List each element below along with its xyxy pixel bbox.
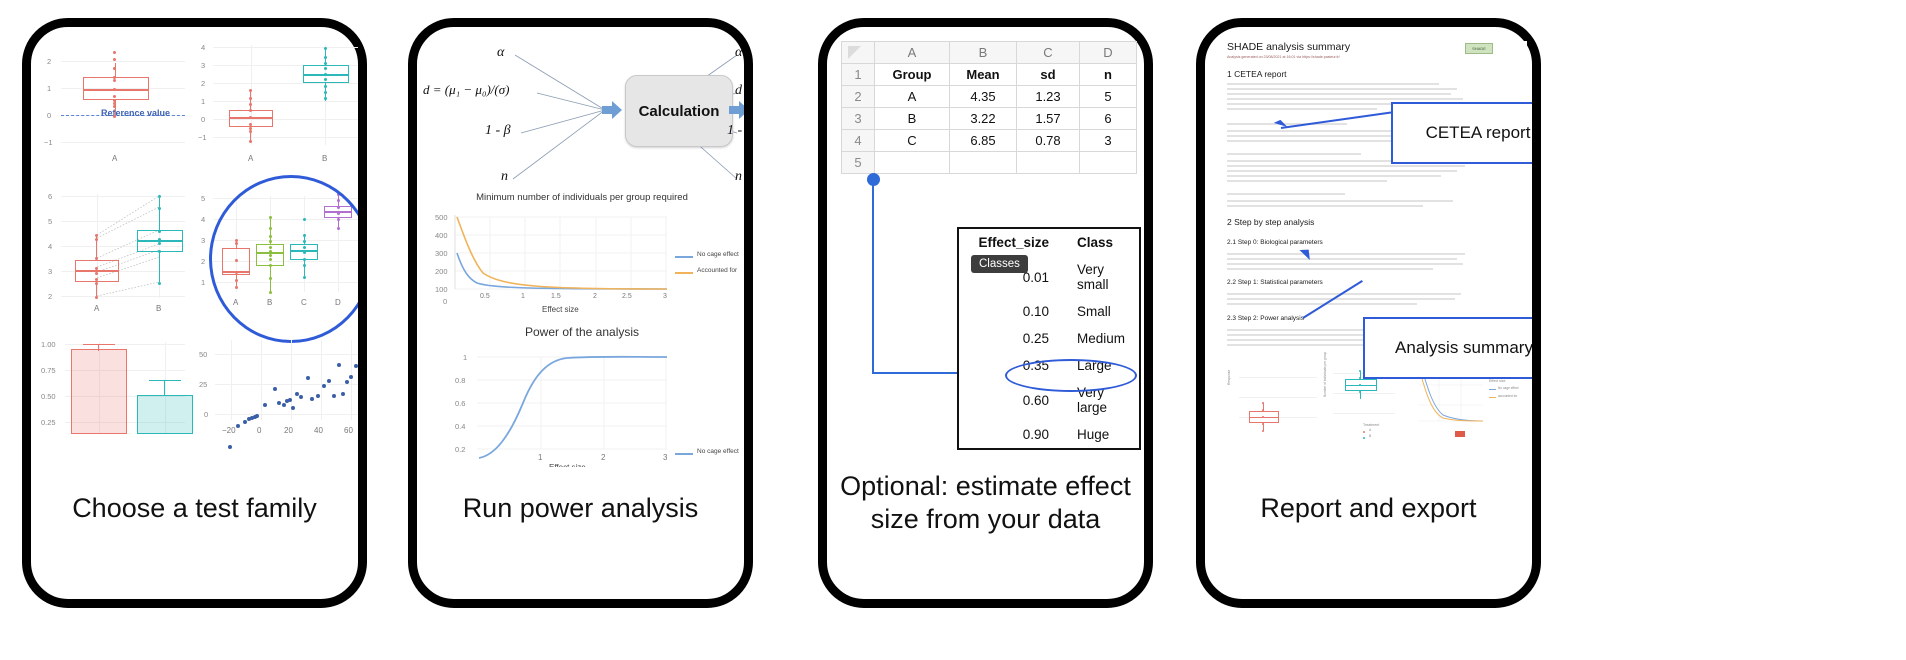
effect-size-class: Medium xyxy=(1063,325,1139,352)
chart-minimum-n: 500 400 300 200 100 0 0.5 1 1.5 2 2.5 3 … xyxy=(417,209,744,324)
cell[interactable]: 6.85 xyxy=(950,130,1017,152)
row-num: 3 xyxy=(842,108,875,130)
panel4-body: SHADE analysis summary SHADE Analysis ge… xyxy=(1205,27,1532,457)
cell[interactable]: 5 xyxy=(1080,86,1137,108)
doc-section-1: 1 CETEA report xyxy=(1227,69,1287,79)
table-row[interactable]: 0.10 Small xyxy=(959,298,1139,325)
mini-legend-title: Treatment xyxy=(1363,423,1379,427)
bar-B xyxy=(137,395,193,434)
panel1-caption: Choose a test family xyxy=(31,492,358,524)
mini-legend-right-0: No cage effect xyxy=(1498,386,1519,390)
chart1-legend-0: No cage effect xyxy=(697,251,739,258)
calculation-box: Calculation xyxy=(625,75,733,147)
sheet-col-A[interactable]: A xyxy=(875,42,950,64)
chart1-title: Minimum number of individuals per group … xyxy=(417,192,744,203)
panel-estimate-effect-size: A B C D 1 Group Mean sd n 2 A 4.35 1.23 xyxy=(818,18,1153,608)
effect-size-header: Effect_size xyxy=(959,229,1063,256)
input-power: 1 - β xyxy=(485,123,511,139)
classes-tooltip: Classes xyxy=(971,255,1028,273)
output-n: n xyxy=(735,169,742,185)
chart-two-sample-box: 4 3 2 1 0 −1 xyxy=(191,37,358,177)
panel3-body: A B C D 1 Group Mean sd n 2 A 4.35 1.23 xyxy=(827,27,1144,457)
doc-title: SHADE analysis summary xyxy=(1227,41,1350,53)
row-num: 1 xyxy=(842,64,875,86)
effect-size-class: Huge xyxy=(1063,421,1139,448)
chart-correlation-scatter: 50 25 0 −20 0 20 40 60 xyxy=(191,332,358,450)
cell[interactable]: 0.78 xyxy=(1017,130,1080,152)
cell[interactable]: 4.35 xyxy=(950,86,1017,108)
arrow-into-calculation-icon xyxy=(602,101,624,121)
pair-connector-lines xyxy=(39,182,189,327)
mini-legend-right-1: accounted for xyxy=(1498,394,1517,398)
output-power: 1 - β xyxy=(727,123,744,139)
sheet-col-B[interactable]: B xyxy=(950,42,1017,64)
doc-section-2-3: 2.3 Step 2: Power analysis xyxy=(1227,315,1304,322)
table-row[interactable]: 5 xyxy=(842,152,1137,174)
table-row[interactable]: 0.90 Huge xyxy=(959,421,1139,448)
row-num: 4 xyxy=(842,130,875,152)
chart-power: 1 0.8 0.6 0.4 0.2 1 2 3 Effect size No c… xyxy=(417,345,744,467)
panel3-caption-line1: Optional: estimate effect xyxy=(827,470,1144,502)
effect-table-header-row: Effect_size Class xyxy=(959,229,1139,256)
cell[interactable]: 6 xyxy=(1080,108,1137,130)
cell[interactable]: B xyxy=(875,108,950,130)
mini-boxplot: Response xyxy=(1227,363,1322,443)
connector-vertical xyxy=(872,183,874,373)
chart1-legend-1: Accounted for xyxy=(697,267,737,274)
reference-value-label: Reference value xyxy=(101,108,170,118)
table-row[interactable]: 2 A 4.35 1.23 5 xyxy=(842,86,1137,108)
table-row[interactable]: 0.25 Medium xyxy=(959,325,1139,352)
callout-arrow-2-head-icon xyxy=(1297,245,1313,261)
effect-size-class: Very small xyxy=(1063,256,1139,298)
arrow-out-of-calculation-icon xyxy=(729,101,744,121)
panel2-body: α d = (μ₁ − μ₀)/(σ) 1 - β n Calculation … xyxy=(417,27,744,467)
cell[interactable]: sd xyxy=(1017,64,1080,86)
callout-arrow-1-head-icon xyxy=(1273,117,1289,133)
mini-axis-mid: Number of individuals per group xyxy=(1323,352,1327,397)
cell[interactable]: 3 xyxy=(1080,130,1137,152)
data-spreadsheet[interactable]: A B C D 1 Group Mean sd n 2 A 4.35 1.23 xyxy=(841,41,1137,174)
cell[interactable]: Mean xyxy=(950,64,1017,86)
selected-row-ellipse xyxy=(1005,359,1137,392)
effect-size-class: Small xyxy=(1063,298,1139,325)
chart-paired-box: 6 5 4 3 2 xyxy=(39,182,189,327)
cell[interactable]: A xyxy=(875,86,950,108)
mini-legend-item-0: A xyxy=(1369,428,1371,432)
panel3-caption-line2: size from your data xyxy=(827,503,1144,535)
sheet-corner xyxy=(842,42,875,64)
doc-section-2-2: 2.2 Step 1: Statistical parameters xyxy=(1227,279,1323,286)
doc-section-2: 2 Step by step analysis xyxy=(1227,217,1314,227)
row-num: 2 xyxy=(842,86,875,108)
class-header: Class xyxy=(1063,229,1139,256)
input-effect-size-formula: d = (μ₁ − μ₀)/(σ) xyxy=(423,82,509,98)
cell[interactable]: 3.22 xyxy=(950,108,1017,130)
effect-size-value: 0.10 xyxy=(959,298,1063,325)
cell[interactable]: n xyxy=(1080,64,1137,86)
cell[interactable] xyxy=(875,152,950,174)
table-row[interactable]: 1 Group Mean sd n xyxy=(842,64,1137,86)
cell[interactable]: C xyxy=(875,130,950,152)
mini-legend-right-title: Effect size xyxy=(1489,379,1506,383)
callout-cetea-report: CETEA report xyxy=(1391,102,1532,164)
sheet-col-D[interactable]: D xyxy=(1080,42,1137,64)
cell[interactable] xyxy=(1080,152,1137,174)
panel-run-power-analysis: α d = (μ₁ − μ₀)/(σ) 1 - β n Calculation … xyxy=(408,18,753,608)
panel2-caption: Run power analysis xyxy=(417,492,744,524)
chart-proportion-bar: 1.00 0.75 0.50 0.25 xyxy=(39,332,189,450)
chart2-title: Power of the analysis xyxy=(417,325,744,339)
effect-size-value: 0.25 xyxy=(959,325,1063,352)
chart-one-sample-box: 2 1 0 −1 Reference value A xyxy=(39,37,189,177)
doc-badge: SHADE xyxy=(1465,43,1493,54)
output-alpha: α xyxy=(735,45,742,61)
cell[interactable] xyxy=(950,152,1017,174)
panel1-charts: 2 1 0 −1 Reference value A xyxy=(31,27,358,457)
input-n: n xyxy=(501,169,508,185)
workflow-figure: 2 1 0 −1 Reference value A xyxy=(0,0,1906,660)
chart2-legend-0: No cage effect xyxy=(697,448,739,455)
cell[interactable]: 1.57 xyxy=(1017,108,1080,130)
mini-legend-item-1: B xyxy=(1369,434,1371,438)
bar-A xyxy=(71,349,127,434)
panel4-caption: Report and export xyxy=(1205,492,1532,524)
table-row[interactable]: 3 B 3.22 1.57 6 xyxy=(842,108,1137,130)
cell[interactable]: Group xyxy=(875,64,950,86)
cell[interactable] xyxy=(1017,152,1080,174)
input-alpha: α xyxy=(497,45,504,61)
panel-report-and-export: SHADE analysis summary SHADE Analysis ge… xyxy=(1196,18,1541,608)
mini-marker xyxy=(1455,431,1465,437)
mini-axis-left: Response xyxy=(1227,370,1231,385)
callout-analysis-summary: Analysis summary xyxy=(1363,317,1532,379)
doc-subtitle: Analysis generated on 23/08/2021 at 16:0… xyxy=(1227,55,1497,59)
sheet-col-C[interactable]: C xyxy=(1017,42,1080,64)
table-row[interactable]: 4 C 6.85 0.78 3 xyxy=(842,130,1137,152)
panel-choose-test-family: 2 1 0 −1 Reference value A xyxy=(22,18,367,608)
output-d: d xyxy=(735,83,742,99)
row-num: 5 xyxy=(842,152,875,174)
cell[interactable]: 1.23 xyxy=(1017,86,1080,108)
effect-size-value: 0.90 xyxy=(959,421,1063,448)
